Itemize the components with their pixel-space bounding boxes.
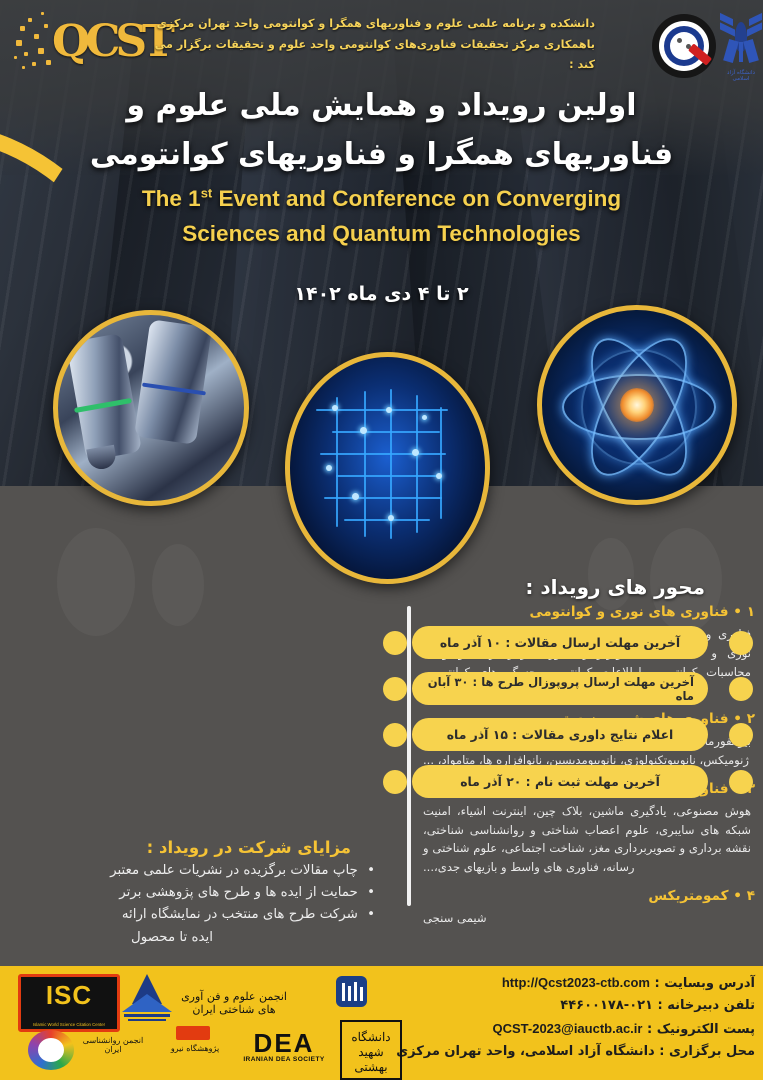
persian-title-line-2: فناوریهای همگرا و فناوریهای کوانتومی (0, 131, 763, 180)
shahid-beheshti-name: دانشگاه شهید بهشتی (342, 1030, 400, 1075)
deadline-text: اعلام نتایج داوری مقالات : ۱۵ آذر ماه (447, 727, 674, 742)
contact-row: آدرس وبسایت : http://Qcst2023-ctb.com (335, 972, 755, 995)
website-url[interactable]: http://Qcst2023-ctb.com (502, 975, 650, 990)
bullet-icon: • (367, 907, 375, 922)
deadline-pill: آخرین مهلت ارسال پروپوزال طرح ها : ۳۰ آب… (412, 672, 708, 705)
bullet-icon: • (367, 885, 375, 900)
deadline-pill: آخرین مهلت ارسال مقالات : ۱۰ آذر ماه (412, 626, 708, 659)
topic-number: ۴ (747, 888, 755, 904)
topic-number: ۱ (747, 604, 755, 620)
bullet-icon: • (367, 863, 375, 878)
pill-dot-right (729, 631, 753, 655)
pill-dot-left (383, 677, 407, 701)
dea-logo-subtext: IRANIAN DEA SOCIETY (238, 1056, 330, 1063)
binary-digits: 0110010010011001 (298, 539, 312, 571)
association-round-logo (28, 1030, 74, 1070)
email-address[interactable]: QCST-2023@iauctb.ac.ir (493, 1021, 643, 1036)
deadline-text: آخرین مهلت ارسال مقالات : ۱۰ آذر ماه (440, 635, 680, 650)
contact-row: تلفن دبیرخانه : ۰۲۱-۴۴۶۰۰۱۷۸ (335, 995, 755, 1017)
contact-label: محل برگزاری : (659, 1044, 755, 1059)
organizer-text: دانشکده و برنامه علمی علوم و فناوریهای ه… (145, 14, 595, 76)
pill-dot-right (729, 723, 753, 747)
benefit-continuation: ایده تا محصول (9, 927, 375, 948)
dea-logo-text: DEA (238, 1028, 330, 1059)
topics-heading: محور های رویداد : (525, 575, 705, 599)
deadline-pill: اعلام نتایج داوری مقالات : ۱۵ آذر ماه (412, 718, 708, 751)
deadline-pill: آخرین مهلت ثبت نام : ۲۰ آذر ماه (412, 765, 708, 798)
topic-body: شیمی سنجی (423, 909, 751, 928)
isc-logo-text: ISC (21, 980, 117, 1011)
benefits-list: • چاپ مقالات برگزیده در نشریات علمی معتب… (9, 860, 375, 948)
contact-label: پست الکترونیک : (647, 1022, 755, 1037)
azad-university-logo: دانشگاه آزاد اسلامی (718, 12, 763, 88)
topic-title-text: • فناوری های نوری و کوانتومی (530, 604, 742, 620)
english-title-line-1: The 1st Event and Conference on Convergi… (0, 182, 763, 217)
circuit-brain-image: 0110010010011001 (285, 352, 490, 584)
benefit-text: چاپ مقالات برگزیده در نشریات علمی معتبر (110, 863, 358, 878)
benefit-item: • چاپ مقالات برگزیده در نشریات علمی معتب… (9, 860, 375, 881)
quantum-center-logo (652, 14, 716, 78)
benefit-item: • شرکت طرح های منتخب در نمایشگاه ارائه (9, 904, 375, 925)
benefit-text: شرکت طرح های منتخب در نمایشگاه ارائه (122, 907, 358, 922)
shahid-beheshti-logo: دانشگاه شهید بهشتی (340, 1020, 402, 1080)
organizer-line-1: دانشکده و برنامه علمی علوم و فناوریهای ه… (145, 14, 595, 35)
topic-title: ۴ • کمومتریکس (417, 887, 755, 906)
contact-label: آدرس وبسایت : (654, 976, 755, 991)
benefits-heading: مزایای شرکت در رویداد : (147, 838, 351, 857)
topic-item: ۴ • کمومتریکس شیمی سنجی (417, 887, 755, 928)
persian-title: اولین رویداد و همایش ملی علوم و فناوریها… (0, 82, 763, 179)
benefit-item: • حمایت از ایده ها و طرح های پژوهشی برتر (9, 882, 375, 903)
niroo-research-name: پژوهشگاه نیرو (162, 1044, 228, 1053)
venue-name: دانشگاه آزاد اسلامی، واحد تهران مرکزی (396, 1044, 655, 1059)
column-divider (407, 606, 411, 906)
contact-label: تلفن دبیرخانه : (658, 998, 755, 1013)
topic-title-text: • کمومتریکس (648, 888, 742, 904)
conference-poster: QCST دانشکده و برنامه علمی علوم و فناوری… (0, 0, 763, 1080)
event-date: ۲ تا ۴ دی ماه ۱۴۰۲ (0, 283, 763, 305)
topic-title: ۱ • فناوری های نوری و کوانتومی (417, 603, 755, 622)
pill-dot-right (729, 677, 753, 701)
english-title-prefix: The 1 (142, 186, 201, 211)
niroo-research-logo: پژوهشگاه نیرو (162, 1026, 228, 1074)
english-title-rest: Event and Conference on Converging (212, 186, 621, 211)
cognitive-society-logo (118, 972, 176, 1030)
persian-title-line-1: اولین رویداد و همایش ملی علوم و (0, 82, 763, 131)
organizer-line-2: باهمکاری مرکز تحقیقات فناوری‌های کوانتوم… (145, 35, 595, 76)
microscope-image (53, 310, 249, 506)
pill-dot-right (729, 770, 753, 794)
deadline-text: آخرین مهلت ثبت نام : ۲۰ آذر ماه (460, 774, 660, 789)
benefit-text: حمایت از ایده ها و طرح های پژوهشی برتر (119, 885, 358, 900)
ordinal-suffix: st (201, 186, 213, 201)
english-title-line-2: Sciences and Quantum Technologies (0, 217, 763, 252)
pill-dot-left (383, 631, 407, 655)
topic-body: هوش مصنوعی، یادگیری ماشین، بلاک چین، این… (423, 802, 751, 877)
atom-image (537, 305, 737, 505)
pill-dot-left (383, 723, 407, 747)
association-name: انجمن روانشناسی ایران (78, 1036, 148, 1054)
isc-logo: ISC Islamic World Science Citation Cente… (18, 974, 120, 1032)
deadline-text: آخرین مهلت ارسال پروپوزال طرح ها : ۳۰ آب… (426, 675, 694, 703)
cognitive-society-name: انجمن علوم و فن آوری های شناختی ایران (176, 990, 292, 1016)
azad-logo-label: دانشگاه آزاد اسلامی (718, 70, 763, 82)
dea-society-logo: DEA IRANIAN DEA SOCIETY (238, 1028, 330, 1072)
phone-number: ۰۲۱-۴۴۶۰۰۱۷۸ (560, 998, 653, 1013)
english-title: The 1st Event and Conference on Convergi… (0, 182, 763, 252)
pill-dot-left (383, 770, 407, 794)
qcst-logo: QCST (14, 10, 154, 72)
isc-logo-subtext: Islamic World Science Citation Center (21, 1022, 117, 1027)
